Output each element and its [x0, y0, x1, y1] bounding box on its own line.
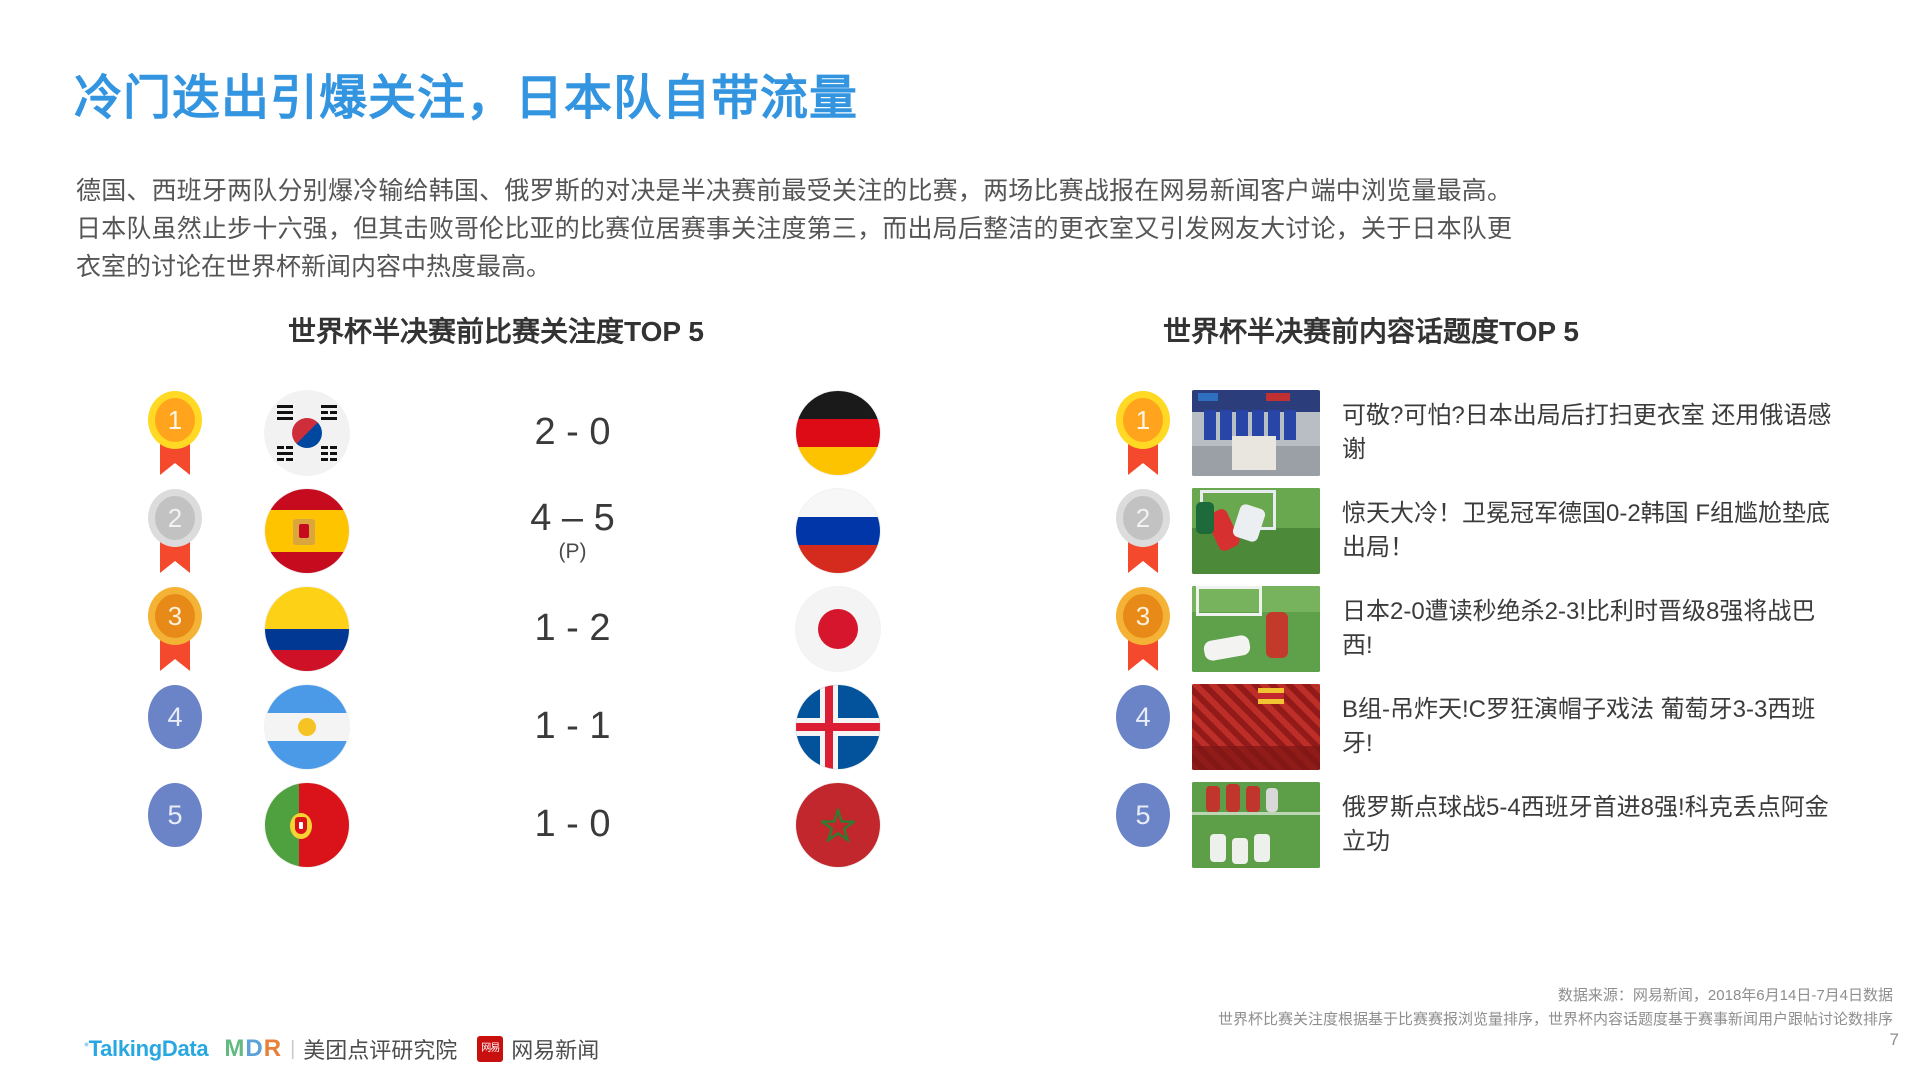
match-ranking-list: 1	[140, 384, 880, 874]
page-title: 冷门迭出引爆关注，日本队自带流量	[74, 58, 858, 128]
rank-number: 3	[148, 587, 202, 645]
table-row: 1	[140, 384, 880, 482]
rank-number: 5	[1116, 783, 1170, 847]
flag-iceland-icon	[796, 685, 880, 769]
rank-badge-cell: 4	[140, 685, 235, 769]
slide-root: 冷门迭出引爆关注，日本队自带流量 德国、西班牙两队分别爆冷输给韩国、俄罗斯的对决…	[0, 0, 1921, 1080]
rank-number: 2	[148, 489, 202, 547]
rank-badge-cell: 1	[140, 391, 235, 475]
logo-divider: |	[290, 1038, 295, 1061]
news-headline[interactable]: 俄罗斯点球战5-4西班牙首进8强!科克丢点阿金立功	[1342, 791, 1840, 859]
match-score-value: 4 – 5	[530, 497, 615, 539]
netease-mark-icon: 网易	[477, 1036, 503, 1062]
flag-spain-icon	[265, 489, 349, 573]
mdr-d: D	[245, 1035, 263, 1062]
rank-badge-cell: 2	[1108, 489, 1192, 573]
list-item[interactable]: 3 日本2-0遭读秒绝杀2-3!比利时晋级8强将战巴西!	[1108, 580, 1898, 678]
medal-silver-icon: 2	[1108, 489, 1178, 573]
table-row: 2 4 – 5 (P)	[140, 482, 880, 580]
rank-badge-4: 4	[1108, 685, 1178, 769]
table-row: 5 1 - 0	[140, 776, 880, 874]
flag-argentina-icon	[265, 685, 349, 769]
source-line-2: 世界杯比赛关注度根据基于比赛赛报浏览量排序，世界杯内容话题度基于赛事新闻用户跟帖…	[1218, 1008, 1893, 1032]
flag-japan-icon	[796, 587, 880, 671]
rank-number: 4	[148, 685, 202, 749]
page-number: 7	[1890, 1030, 1899, 1050]
mdr-r: R	[264, 1035, 282, 1062]
rank-badge-cell: 1	[1108, 391, 1192, 475]
news-headline[interactable]: B组-吊炸天!C罗狂演帽子戏法 葡萄牙3-3西班牙!	[1342, 693, 1840, 761]
rank-number: 5	[148, 783, 202, 847]
flag-morocco-icon	[796, 783, 880, 867]
table-row: 3 1 - 2	[140, 580, 880, 678]
news-thumbnail-locker-room	[1192, 390, 1320, 476]
medal-gold-icon: 1	[1108, 391, 1178, 475]
netease-logo: 网易 网易新闻	[477, 1033, 599, 1065]
medal-silver-icon: 2	[140, 489, 210, 573]
medal-gold-icon: 1	[140, 391, 210, 475]
morocco-star-icon	[821, 808, 855, 842]
meituan-research-label: 美团点评研究院	[303, 1033, 457, 1065]
match-score: 4 – 5 (P)	[349, 499, 796, 563]
news-headline[interactable]: 日本2-0遭读秒绝杀2-3!比利时晋级8强将战巴西!	[1342, 595, 1840, 663]
rank-badge-5: 5	[1108, 783, 1178, 867]
rank-number: 1	[148, 391, 202, 449]
news-ranking-list: 1 可敬?可怕?日本出局后打扫更衣室 还用俄语感谢	[1108, 384, 1898, 874]
list-item[interactable]: 5 俄罗斯点球战5-4西班牙首进8强!科克丢点阿金立功	[1108, 776, 1898, 874]
news-thumbnail-team-huddle	[1192, 782, 1320, 868]
intro-paragraph: 德国、西班牙两队分别爆冷输给韩国、俄罗斯的对决是半决赛前最受关注的比赛，两场比赛…	[76, 172, 1512, 286]
news-thumbnail-pitch-celebration	[1192, 586, 1320, 672]
rank-number: 4	[1116, 685, 1170, 749]
flag-south-korea-icon	[265, 391, 349, 475]
source-line-1: 数据来源：网易新闻，2018年6月14日-7月4日数据	[1218, 984, 1893, 1008]
rank-number: 2	[1116, 489, 1170, 547]
source-notes: 数据来源：网易新闻，2018年6月14日-7月4日数据 世界杯比赛关注度根据基于…	[1218, 984, 1893, 1032]
right-section-heading: 世界杯半决赛前内容话题度TOP 5	[1163, 310, 1579, 350]
list-item[interactable]: 1 可敬?可怕?日本出局后打扫更衣室 还用俄语感谢	[1108, 384, 1898, 482]
rank-badge-cell: 2	[140, 489, 235, 573]
rank-number: 3	[1116, 587, 1170, 645]
match-score: 2 - 0	[349, 413, 796, 453]
rank-badge-4: 4	[140, 685, 210, 769]
news-thumbnail-red-crowd	[1192, 684, 1320, 770]
list-item[interactable]: 4 B组-吊炸天!C罗狂演帽子戏法 葡萄牙3-3西班牙!	[1108, 678, 1898, 776]
rank-badge-cell: 4	[1108, 685, 1192, 769]
flag-portugal-icon	[265, 783, 349, 867]
netease-label: 网易新闻	[511, 1033, 599, 1065]
mdr-m: M	[224, 1035, 245, 1062]
flag-colombia-icon	[265, 587, 349, 671]
mdr-logo: MDR	[224, 1035, 282, 1063]
rank-badge-cell: 5	[140, 783, 235, 867]
medal-bronze-icon: 3	[1108, 587, 1178, 671]
footer-logos: •TalkingData MDR | 美团点评研究院 网易 网易新闻	[84, 1033, 599, 1065]
rank-badge-cell: 3	[1108, 587, 1192, 671]
talkingdata-logo: •TalkingData	[84, 1036, 208, 1062]
talkingdata-label: TalkingData	[89, 1036, 209, 1061]
flag-germany-icon	[796, 391, 880, 475]
flag-russia-icon	[796, 489, 880, 573]
rank-badge-cell: 3	[140, 587, 235, 671]
news-thumbnail-goal-save	[1192, 488, 1320, 574]
left-section-heading: 世界杯半决赛前比赛关注度TOP 5	[288, 310, 704, 350]
news-headline[interactable]: 可敬?可怕?日本出局后打扫更衣室 还用俄语感谢	[1342, 399, 1840, 467]
news-headline[interactable]: 惊天大冷！卫冕冠军德国0-2韩国 F组尴尬垫底出局！	[1342, 497, 1840, 565]
rank-number: 1	[1116, 391, 1170, 449]
rank-badge-5: 5	[140, 783, 210, 867]
medal-bronze-icon: 3	[140, 587, 210, 671]
match-score: 1 - 1	[349, 707, 796, 747]
table-row: 4 1 - 1	[140, 678, 880, 776]
match-score: 1 - 0	[349, 805, 796, 845]
match-score: 1 - 2	[349, 609, 796, 649]
rank-badge-cell: 5	[1108, 783, 1192, 867]
penalty-marker: (P)	[349, 541, 796, 563]
list-item[interactable]: 2 惊天大冷！卫冕冠军德国0-2韩国 F组尴尬垫底出局！	[1108, 482, 1898, 580]
